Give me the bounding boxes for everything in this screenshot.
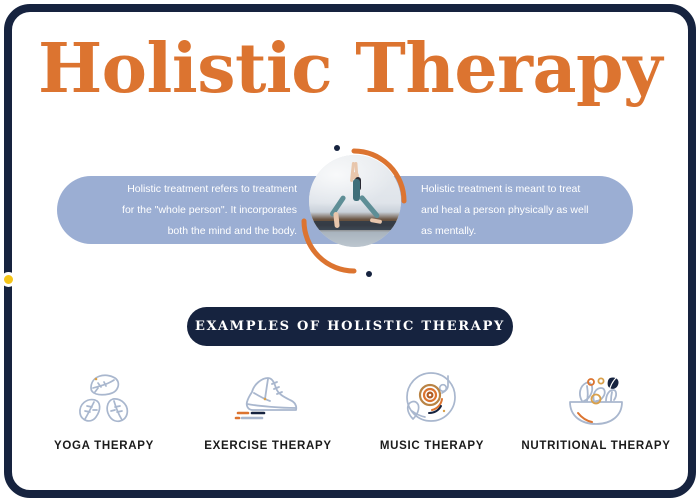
arc-dot-bottom	[366, 271, 372, 277]
salad-bowl-icon	[560, 362, 632, 434]
intro-left-line-3: both the mind and the body.	[83, 221, 297, 242]
examples-row: YOGA THERAPY	[22, 362, 678, 452]
example-item-nutritional: NUTRITIONAL THERAPY	[514, 362, 678, 452]
examples-badge: EXAMPLES OF HOLISTIC THERAPY	[187, 307, 513, 346]
vinyl-record-heart-icon	[398, 362, 466, 434]
intro-right-line-3: as mentally.	[421, 221, 611, 242]
running-shoe-icon	[232, 362, 304, 434]
page-title: Holistic Therapy	[0, 30, 700, 108]
example-label-nutritional: NUTRITIONAL THERAPY	[521, 440, 670, 452]
example-label-exercise: EXERCISE THERAPY	[204, 440, 332, 452]
holistic-therapy-infographic: Holistic Therapy Holistic treatment refe…	[0, 0, 700, 502]
intro-right-line-1: Holistic treatment is meant to treat	[421, 179, 611, 200]
example-label-music: MUSIC THERAPY	[380, 440, 484, 452]
orange-arc-decoration	[296, 141, 412, 281]
left-edge-accent-dot	[1, 272, 16, 287]
intro-left-line-2: for the "whole person". It incorporates	[83, 200, 297, 221]
examples-badge-label: EXAMPLES OF HOLISTIC THERAPY	[195, 319, 505, 334]
example-item-yoga: YOGA THERAPY	[22, 362, 186, 452]
intro-left-line-1: Holistic treatment refers to treatment	[83, 179, 297, 200]
example-item-music: MUSIC THERAPY	[350, 362, 514, 452]
example-item-exercise: EXERCISE THERAPY	[186, 362, 350, 452]
three-leaves-icon	[71, 362, 137, 434]
intro-right-line-2: and heal a person physically as well	[421, 200, 611, 221]
yoga-photo-medallion	[296, 141, 412, 281]
arc-dot-top	[334, 145, 340, 151]
example-label-yoga: YOGA THERAPY	[54, 440, 154, 452]
